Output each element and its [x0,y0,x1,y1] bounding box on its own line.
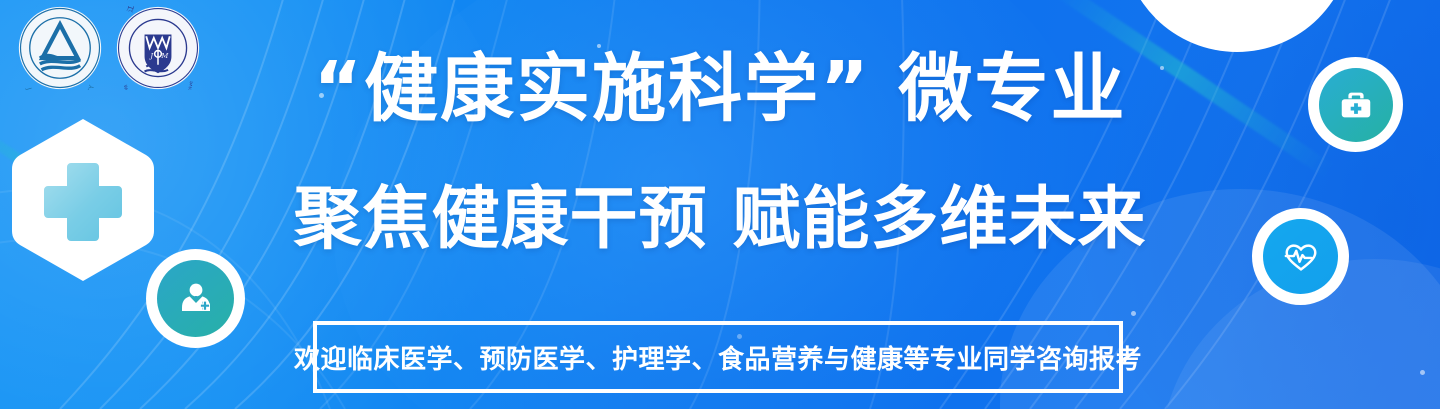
page-subtitle: 聚焦健康干预 赋能多维未来 [0,186,1440,254]
promo-banner: 江 南 大 学 JIANGNAN UNIVERSITY J M [0,0,1440,409]
doctor-glyph [176,279,216,319]
background-white-circle [1122,0,1352,52]
subtitle-text: 聚焦健康干预 赋能多维未来 [294,180,1147,259]
doctor-icon [146,249,245,348]
background-dot-5 [1131,311,1136,316]
doctor-icon-disc [157,260,234,337]
background-dot-6 [1420,370,1425,375]
page-title: “健康实施科学” 微专业 [0,52,1440,126]
headline-text: “健康实施科学” 微专业 [313,46,1126,132]
notice-text: 欢迎临床医学、预防医学、护理学、食品营养与健康等专业同学咨询报考 [294,339,1142,376]
notice-box: 欢迎临床医学、预防医学、护理学、食品营养与健康等专业同学咨询报考 [313,321,1123,393]
